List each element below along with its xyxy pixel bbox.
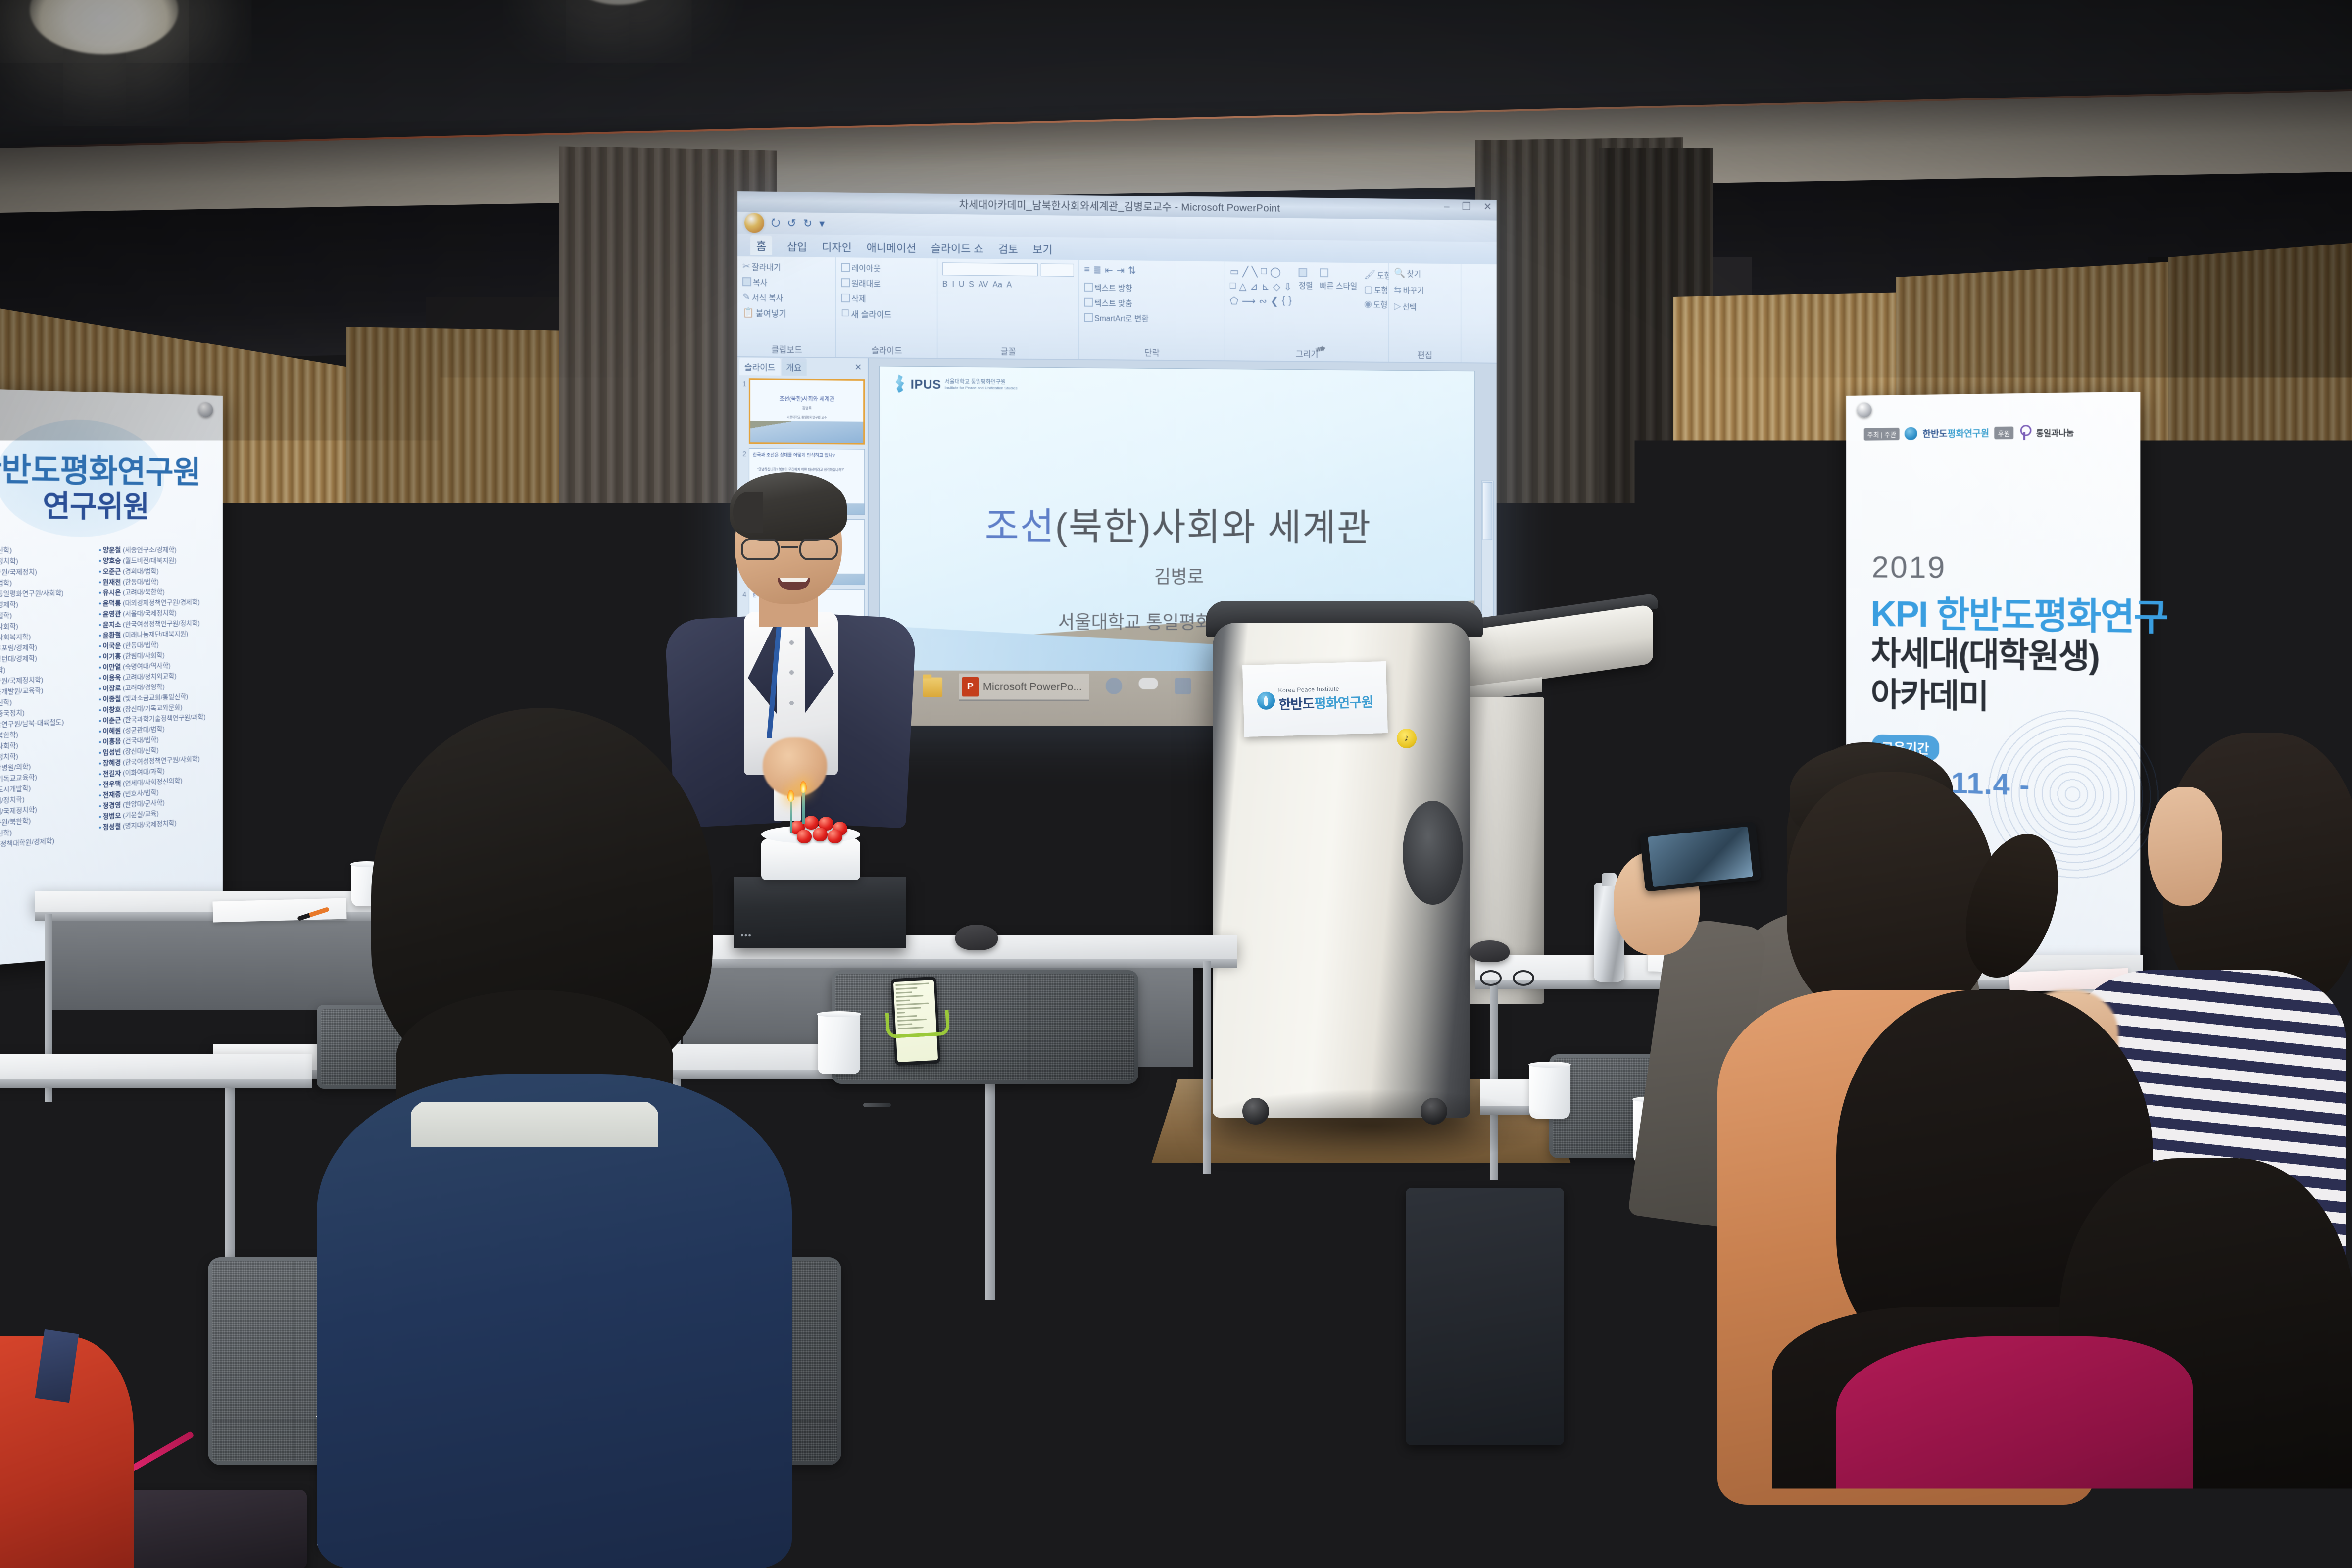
ribbon-group-clipboard-label: 클립보드 [737, 343, 835, 356]
shape-fill-button[interactable]: 🖌도형 채우기 [1364, 269, 1389, 281]
shape-arrow-icon[interactable]: ╲ [1252, 266, 1258, 278]
banner-left-heading-2: 연구위원 [0, 481, 213, 526]
kpi-logo-text: 한반도평화연구원 [1922, 426, 1989, 440]
shape-effects-button[interactable]: ◉도형 효과 [1364, 298, 1389, 310]
chair-center [832, 970, 1138, 1084]
ipus-logo-text: IPUS [911, 376, 941, 392]
tab-outline-pane[interactable]: 개요 [781, 358, 806, 375]
navigator-tabs[interactable]: 슬라이드 개요 ✕ [737, 357, 868, 376]
ribbon-group-drawing[interactable]: ▭ ╱ ╲ □ ◯ □ △ ⊿ ⊾ ◇ [1225, 261, 1389, 362]
indent-decrease-icon[interactable]: ⇤ [1105, 264, 1113, 277]
banner-left-name: (조선대/신학) [0, 544, 96, 554]
copy-button[interactable]: 복사 [742, 276, 786, 288]
new-slide-button[interactable]: ☐새 슬라이드 [841, 307, 891, 320]
ribbon-group-editing-label: 편집 [1389, 348, 1461, 361]
convert-smartart-button[interactable]: SmartArt로 변환 [1084, 312, 1149, 324]
bullet-list-icon[interactable]: ≡ [1084, 264, 1089, 276]
kpi-logo-icon [1257, 691, 1275, 710]
lectern-podium: Korea Peace Institute 한반도평화연구원 ♪ [1213, 623, 1470, 1118]
line-spacing-icon[interactable]: ⇅ [1128, 264, 1136, 277]
banner-right-title-3: 아카데미 [1871, 668, 1988, 718]
shape-triangle-icon[interactable]: △ [1239, 280, 1247, 293]
layout-button[interactable]: 레이아웃 [841, 261, 891, 274]
computer-mouse [955, 925, 998, 950]
banner-left-name: (대구대/사회복지학) [0, 630, 96, 642]
shadow-button[interactable]: S [969, 281, 974, 290]
shape-arrowright-icon[interactable]: ⟶ [1242, 295, 1256, 307]
ribbon-group-paragraph[interactable]: ≡ ≣ ⇤ ⇥ ⇅ 텍스트 방향 텍스트 맞춤 SmartArt로 변환 단락 [1079, 260, 1225, 360]
underline-button[interactable]: U [959, 280, 964, 289]
computer-mouse [1470, 940, 1510, 962]
phone-on-stand [886, 978, 949, 1030]
shape-diamond-icon[interactable]: ◇ [1273, 281, 1280, 293]
window-title: 차세대아카데미_남북한사회와세계관_김병로교수 - Microsoft Powe… [959, 196, 1280, 215]
tray-cloud-icon[interactable] [1138, 678, 1158, 689]
reset-button[interactable]: 원래대로 [841, 277, 891, 289]
shape-gallery-row-2[interactable]: □ △ ⊿ ⊾ ◇ ⇩ [1230, 280, 1292, 293]
banner-left-name: (통일연구원/국제정치) [0, 566, 96, 576]
save-icon[interactable]: ⭮ [771, 214, 780, 233]
ipus-logo: IPUS 서울대학교 통일평화연구원 Institute for Peace a… [892, 374, 1018, 394]
taskbar-powerpoint-item[interactable]: P Microsoft PowerPo... [959, 674, 1089, 701]
lecture-hall-scene: 차세대아카데미_남북한사회와세계관_김병로교수 - Microsoft Powe… [0, 0, 2352, 1568]
slide-author: 김병로 [880, 561, 1474, 589]
banner-left-name: 양운철 (세종연구소/경제학) [99, 544, 219, 554]
shape-elbow2-icon[interactable]: ⊾ [1262, 281, 1270, 293]
phone-stand-wire [885, 1010, 950, 1039]
thumbnail-subtitle: 김병로 [754, 405, 859, 411]
office-orb-icon[interactable] [744, 213, 764, 233]
banner-left-column-1: (조선대/신학)(경남대/정치학)(통일연구원/국제정치)(경북대/법학)(서울… [0, 544, 96, 850]
shape-elbow-icon[interactable]: ⊿ [1250, 280, 1258, 293]
eyeglasses-icon [1480, 970, 1534, 988]
tongil-logo-text: 통일과나눔 [2036, 426, 2074, 438]
banner-host-chip: 주최 | 주관 [1864, 427, 1900, 440]
presenter-hair [730, 472, 847, 541]
tray-extra-icon[interactable] [1175, 678, 1191, 694]
thumbnail-number: 2 [740, 448, 746, 458]
banner-left-name: 윤환철 (미래나눔재단/대북지원) [99, 628, 219, 639]
banner-left-column-2: 양운철 (세종연구소/경제학)양호승 (월드비전/대북지원)오준근 (경희대/법… [99, 544, 219, 842]
ipus-logo-icon [892, 374, 907, 393]
ribbon-group-paragraph-label: 단락 [1079, 345, 1225, 359]
podium-logo-plate: Korea Peace Institute 한반도평화연구원 [1242, 661, 1388, 737]
banner-right-year: 2019 [1872, 549, 1947, 585]
podium-shadow [1188, 1089, 1554, 1163]
shape-chevron-icon[interactable]: ❮ [1271, 295, 1278, 308]
taskbar-powerpoint-label: Microsoft PowerPo... [983, 680, 1082, 693]
ribbon-group-drawing-label: 그리기 [1225, 346, 1389, 360]
slide-title-rest: (북한)사회와 세계관 [1055, 506, 1372, 549]
font-color-button[interactable]: A [1007, 281, 1012, 290]
maximize-icon[interactable]: ❐ [1462, 201, 1471, 212]
font-family-select[interactable] [942, 262, 1038, 276]
banner-left-name: (경남대/정치학) [0, 555, 96, 566]
indent-increase-icon[interactable]: ⇥ [1117, 264, 1125, 277]
shape-brace2-icon[interactable]: } [1288, 295, 1292, 308]
quick-styles-label: 빠른 스타일 [1320, 279, 1357, 291]
close-icon[interactable]: ✕ [1483, 202, 1492, 212]
align-text-button[interactable]: 텍스트 맞춤 [1084, 296, 1149, 309]
podium-yellow-badge-icon: ♪ [1397, 729, 1417, 748]
slide-title: 조선(북한)사회와 세계관 [880, 495, 1474, 552]
tab-design[interactable]: 디자인 [822, 239, 851, 256]
orange-student-hair [1787, 772, 1995, 1020]
banner-left-name: (숭실대/철학) [0, 609, 96, 621]
thumbnail-title: 조선(북한)사회와 세계관 [754, 394, 859, 403]
podium-speaker-grille [1403, 801, 1463, 905]
banner-left-name: 윤지소 (한국여성정책연구원/정치학) [99, 617, 219, 629]
minimize-icon[interactable]: – [1444, 201, 1449, 212]
banner-left-name: (서원대/사회학) [0, 619, 96, 631]
banner-left-name-columns: (조선대/신학)(경남대/정치학)(통일연구원/국제정치)(경북대/법학)(서울… [0, 544, 219, 850]
tab-slides-pane[interactable]: 슬라이드 [739, 358, 780, 376]
shape-line-icon[interactable]: ╱ [1242, 266, 1248, 278]
desk-leg [985, 1072, 995, 1300]
delete-slide-button[interactable]: 삭제 [841, 292, 891, 304]
arrange-button[interactable] [1299, 268, 1313, 277]
kpi-logo-icon [1905, 427, 1917, 440]
ipus-logo-sub-en: Institute for Peace and Unification Stud… [945, 385, 1018, 390]
tab-view[interactable]: 보기 [1032, 241, 1052, 258]
tab-animations[interactable]: 애니메이션 [867, 239, 916, 257]
ribbon-group-editing[interactable]: 🔍찾기 ⇆바꾸기 ▷선택 편집 [1389, 263, 1461, 362]
tab-review[interactable]: 검토 [998, 241, 1018, 258]
italic-button[interactable]: I [952, 280, 954, 289]
powerpoint-icon: P [962, 677, 979, 696]
student-magenta [1826, 1218, 2352, 1568]
thumbnail-affiliation: 서울대학교 통일평화연구원 교수 [754, 414, 859, 419]
student-front-left [247, 708, 871, 1568]
navigator-close-icon[interactable]: ✕ [854, 362, 862, 372]
podium-plate-row: Korea Peace Institute 한반도평화연구원 [1257, 685, 1373, 714]
backpack-floor [1406, 1188, 1564, 1445]
shape-arrowdown-icon[interactable]: ⇩ [1284, 281, 1292, 293]
shape-pentagon-icon[interactable]: ⬠ [1230, 295, 1238, 307]
slide-thumbnail-1[interactable]: 조선(북한)사회와 세계관 김병로 서울대학교 통일평화연구원 교수 [749, 378, 865, 444]
banner-left-name: 윤영관 (서울대/국제정치학) [99, 607, 219, 618]
font-size-select[interactable] [1040, 263, 1074, 277]
banner-right-sponsors: 주최 | 주관 한반도평화연구원 후원 통일과나눔 [1864, 424, 2074, 441]
redo-icon[interactable]: ↻ [803, 217, 812, 230]
shape-outline-button[interactable]: ▢도형 윤곽선 [1364, 284, 1389, 296]
char-spacing-button[interactable]: Aa [992, 281, 1002, 290]
banner-left: 한반도평화연구원 연구위원 (조선대/신학)(경남대/정치학)(통일연구원/국제… [0, 389, 223, 967]
find-button[interactable]: 🔍찾기 [1394, 267, 1424, 279]
tab-slideshow[interactable]: 슬라이드 쇼 [931, 240, 983, 257]
ribbon-group-font-label: 글꼴 [937, 344, 1079, 357]
banner-left-name: 윤덕룡 (대외경제정책연구원/경제학) [99, 596, 219, 607]
student-red [0, 1336, 139, 1568]
tongil-key-icon [2018, 425, 2031, 440]
ribbon-group-slides[interactable]: 레이아웃 원래대로 삭제 ☐새 슬라이드 슬라이드 [836, 257, 937, 358]
bold-button[interactable]: B [942, 280, 948, 289]
thumbnail-heading: 한국과 조선은 상대를 어떻게 인식하고 있나? [753, 452, 861, 459]
shape-curve-icon[interactable]: ∾ [1259, 295, 1267, 307]
ribbon-group-clipboard[interactable]: ✂잘라내기 복사 ✎서식 복사 📋붙여넣기 클립보드 [737, 256, 836, 357]
presenter-glasses-icon [741, 539, 838, 561]
undo-icon[interactable]: ↺ [787, 217, 796, 230]
student-sweater [317, 1074, 792, 1568]
banner-pin-icon [1857, 402, 1872, 417]
cut-button[interactable]: ✂잘라내기 [742, 260, 786, 273]
banner-sponsor-chip: 후원 [1994, 426, 2013, 439]
banner-left-name: 유시은 (고려대/북한학) [99, 586, 219, 597]
shape-gallery-row-3[interactable]: ⬠ ⟶ ∾ ❮ { } [1230, 295, 1292, 308]
quick-styles-button[interactable] [1320, 268, 1357, 278]
ribbon-group-slides-label: 슬라이드 [836, 343, 937, 357]
strikethrough-button[interactable]: AV [979, 281, 988, 290]
chair-far-left [0, 1153, 158, 1292]
thumbnail-question: "안녕하십니까? 북한이 우리에게 어떤 대상이라고 생각하십니까?" [757, 468, 861, 473]
ribbon-group-font[interactable]: B I U S AV Aa A 글꼴 [937, 258, 1079, 359]
ribbon[interactable]: ✂잘라내기 복사 ✎서식 복사 📋붙여넣기 클립보드 레이아웃 원래대로 삭제 … [737, 256, 1497, 364]
slide-thumbnail-row[interactable]: 1 조선(북한)사회와 세계관 김병로 서울대학교 통일평화연구원 교수 [740, 378, 865, 445]
podium-plate-korean: 한반도평화연구원 [1278, 691, 1373, 713]
shape-square-icon[interactable]: □ [1261, 266, 1267, 278]
banner-pin-icon [198, 402, 213, 418]
shape-oval-icon[interactable]: ◯ [1270, 266, 1281, 278]
replace-button[interactable]: ⇆바꾸기 [1394, 284, 1424, 295]
banner-left-name: 양호승 (월드비전/대북지원) [99, 555, 219, 565]
shape-brace-icon[interactable]: { [1282, 295, 1285, 308]
thumbnail-number: 1 [740, 378, 746, 388]
shape-gallery-row-1[interactable]: ▭ ╱ ╲ □ ◯ [1230, 265, 1292, 278]
banner-left-name: (경북대/법학) [0, 577, 96, 588]
tab-home[interactable]: 홈 [750, 235, 772, 255]
window-controls[interactable]: – ❐ ✕ [1444, 201, 1492, 212]
paste-button[interactable]: 📋붙여넣기 [742, 306, 786, 319]
banner-left-name: (서울대/경제학) [0, 598, 96, 609]
ipus-logo-sub-ko: 서울대학교 통일평화연구원 [945, 379, 1018, 386]
tab-insert[interactable]: 삽입 [787, 238, 807, 255]
banner-left-name: 원재천 (한동대/법학) [99, 576, 219, 586]
magenta-student-top [1836, 1336, 2193, 1568]
scrollbar-thumb[interactable] [1483, 482, 1492, 540]
tray-dot-icon[interactable] [1105, 678, 1122, 694]
banner-left-name: (서울대 통일평화연구원/사회학) [0, 588, 96, 599]
format-painter-button[interactable]: ✎서식 복사 [742, 291, 786, 303]
slide-title-highlight: 조선 [985, 505, 1055, 547]
shape-square2-icon[interactable]: □ [1230, 280, 1236, 293]
number-list-icon[interactable]: ≣ [1093, 264, 1101, 276]
arrange-label: 정렬 [1299, 279, 1313, 291]
shape-rect-icon[interactable]: ▭ [1230, 265, 1239, 278]
striped-student-face [2148, 787, 2222, 906]
banner-left-name: 오준근 (경희대/법학) [99, 565, 219, 576]
text-direction-button[interactable]: 텍스트 방향 [1084, 281, 1149, 294]
chevron-down-icon[interactable]: ▾ [819, 217, 825, 230]
cake-shadow [703, 926, 960, 980]
select-button[interactable]: ▷선택 [1394, 300, 1424, 312]
file-explorer-icon[interactable] [923, 678, 942, 697]
